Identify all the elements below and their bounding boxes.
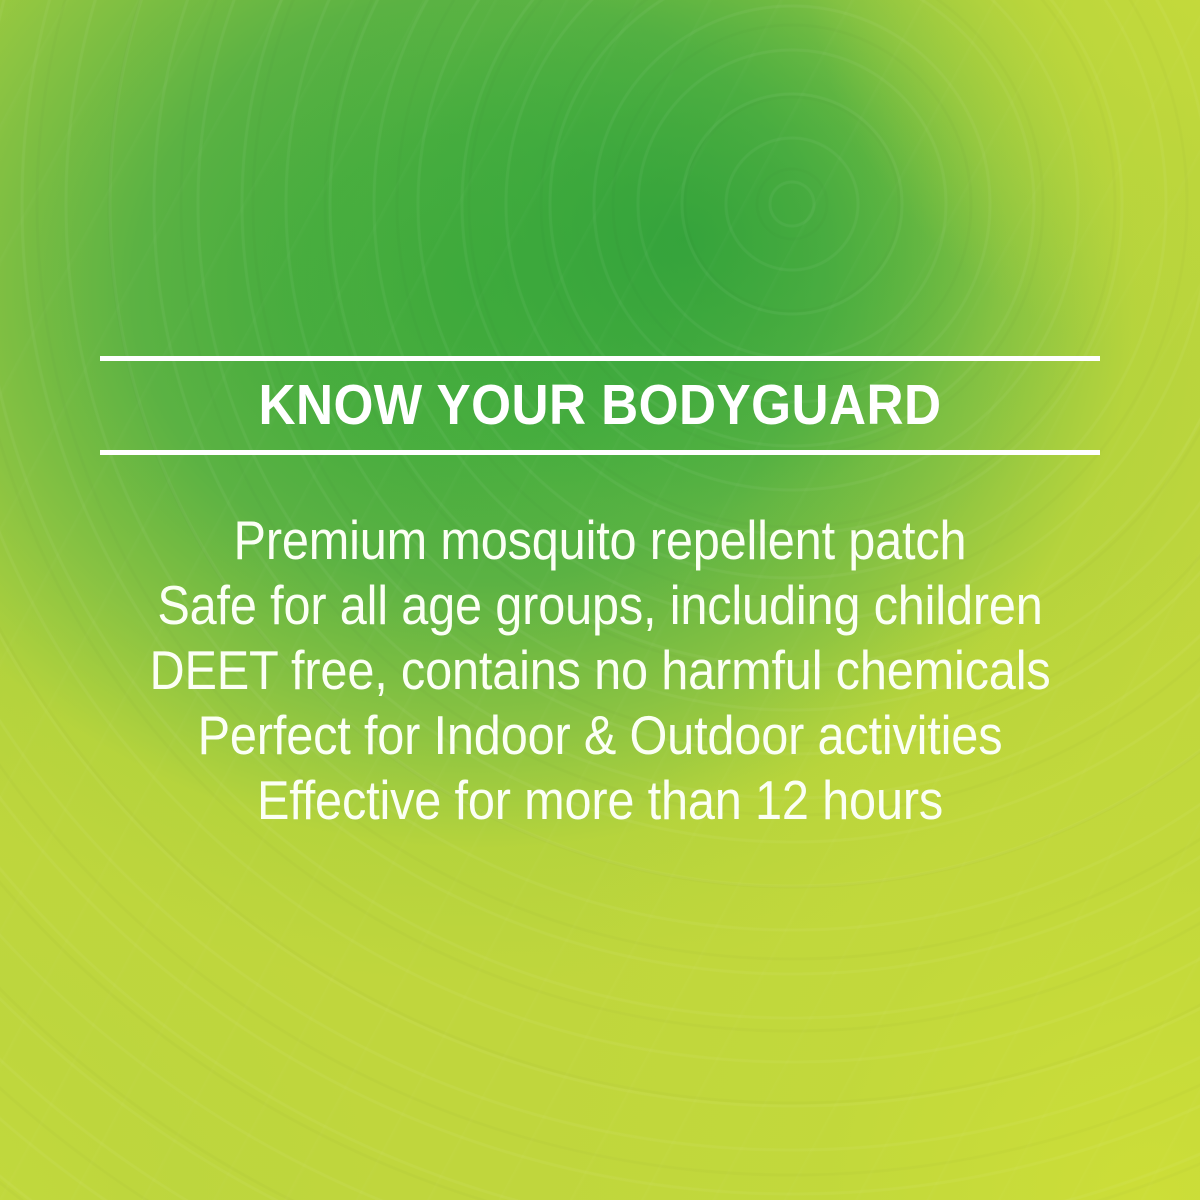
- heading-block: KNOW YOUR BODYGUARD: [100, 356, 1100, 455]
- page-title: KNOW YOUR BODYGUARD: [150, 361, 1050, 450]
- poster-canvas: KNOW YOUR BODYGUARD Premium mosquito rep…: [0, 0, 1200, 1200]
- feature-line-4: Perfect for Indoor & Outdoor activities: [69, 703, 1131, 768]
- feature-list: Premium mosquito repellent patch Safe fo…: [0, 508, 1200, 833]
- feature-line-3: DEET free, contains no harmful chemicals: [69, 638, 1131, 703]
- feature-line-5: Effective for more than 12 hours: [69, 768, 1131, 833]
- feature-line-2: Safe for all age groups, including child…: [69, 573, 1131, 638]
- poster-content: KNOW YOUR BODYGUARD Premium mosquito rep…: [0, 0, 1200, 1200]
- heading-rule-bottom: [100, 450, 1100, 455]
- feature-line-1: Premium mosquito repellent patch: [69, 508, 1131, 573]
